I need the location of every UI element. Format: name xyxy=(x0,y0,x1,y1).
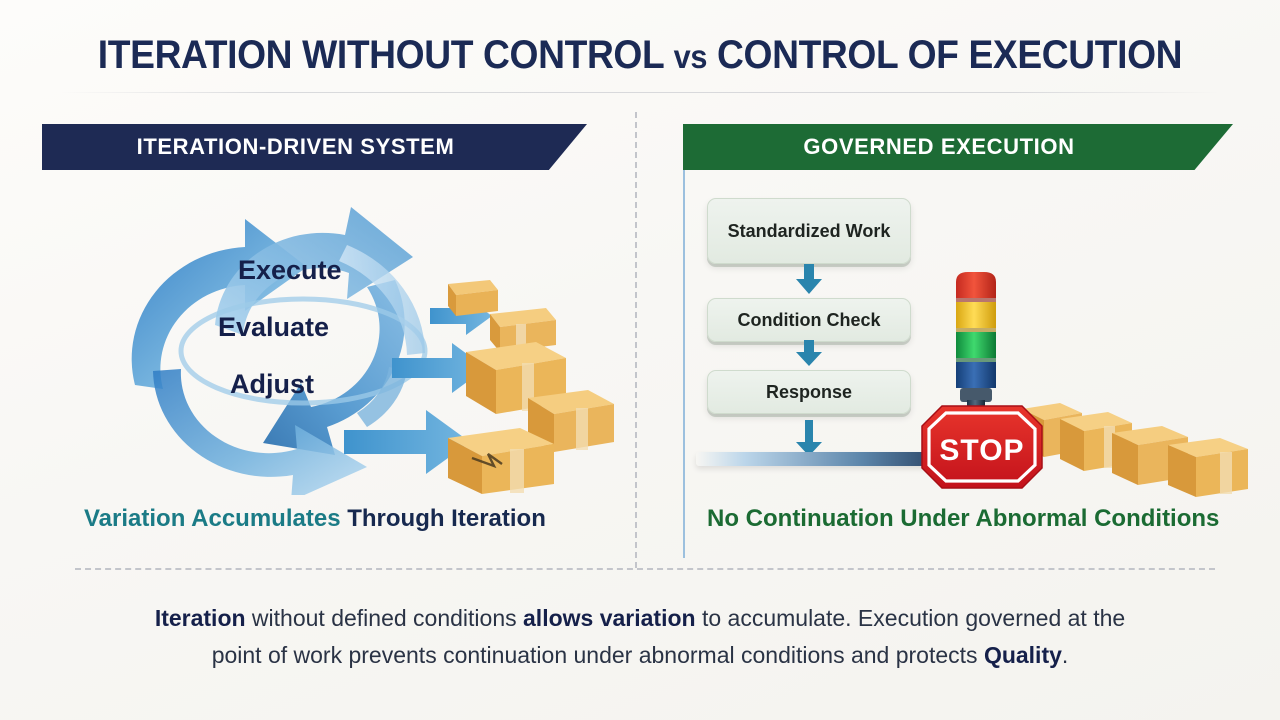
flow-step-condition-check[interactable]: Condition Check xyxy=(707,298,911,342)
summary-bold-3: allows variation xyxy=(523,605,696,631)
right-panel-caption: No Continuation Under Abnormal Condition… xyxy=(707,505,1219,533)
title-part1: ITERATION WITHOUT CONTROL xyxy=(98,33,664,77)
title-part2: CONTROL OF EXECUTION xyxy=(717,33,1182,77)
flow-step-standardized-work[interactable]: Standardized Work xyxy=(707,198,911,264)
flow-step-response[interactable]: Response xyxy=(707,370,911,414)
stop-sign-icon[interactable]: STOP xyxy=(920,404,1044,490)
summary-bold-1: Iteration xyxy=(155,605,246,631)
flow-step-0-label: Standardized Work xyxy=(728,221,891,242)
caption-rest: Through Iteration xyxy=(341,505,546,532)
horizontal-dashed-divider xyxy=(75,568,1215,570)
bottom-summary-text: Iteration without defined conditions all… xyxy=(140,600,1140,675)
summary-text-6: . xyxy=(1062,642,1068,668)
right-banner-label: GOVERNED EXECUTION xyxy=(803,134,1074,160)
left-banner-label: ITERATION-DRIVEN SYSTEM xyxy=(137,134,455,160)
stop-sign-label: STOP xyxy=(939,434,1024,467)
right-panel-guide-line xyxy=(683,170,685,558)
right-panel-banner: GOVERNED EXECUTION xyxy=(683,124,1233,170)
flow-arrow-down-icon-3 xyxy=(795,420,823,456)
title-vs: vs xyxy=(674,38,707,75)
infographic-canvas: ITERATION WITHOUT CONTROL vs CONTROL OF … xyxy=(0,0,1280,720)
left-panel-caption: Variation Accumulates Through Iteration xyxy=(84,505,546,533)
summary-bold-5: Quality xyxy=(984,642,1062,668)
flow-step-1-label: Condition Check xyxy=(738,310,881,331)
flow-arrow-down-icon-2 xyxy=(795,340,823,366)
flow-step-2-label: Response xyxy=(766,382,852,403)
summary-text-2: without defined conditions xyxy=(246,605,523,631)
flow-arrow-down-icon-1 xyxy=(795,264,823,294)
scattered-boxes-icon xyxy=(330,280,630,495)
title-underline-rule xyxy=(60,92,1220,93)
vertical-dashed-divider xyxy=(635,112,637,568)
caption-highlight: Variation Accumulates xyxy=(84,505,341,532)
page-title: ITERATION WITHOUT CONTROL vs CONTROL OF … xyxy=(45,34,1235,76)
left-panel-banner: ITERATION-DRIVEN SYSTEM xyxy=(42,124,587,170)
